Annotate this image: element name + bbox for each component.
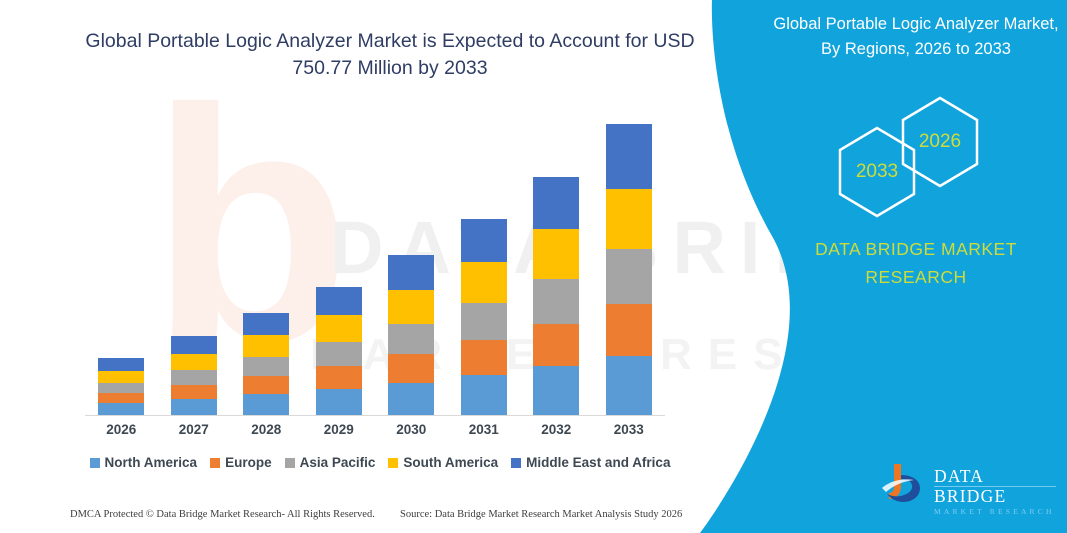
blue-panel-content: Global Portable Logic Analyzer Market, B… (760, 0, 1067, 533)
bar-segment[interactable] (171, 385, 217, 399)
legend-item[interactable]: North America (90, 455, 198, 470)
legend-item[interactable]: Middle East and Africa (511, 455, 670, 470)
x-axis-label: 2032 (520, 422, 593, 437)
bar-segment[interactable] (98, 358, 144, 371)
bar-segment[interactable] (461, 375, 507, 415)
bar-segment[interactable] (533, 229, 579, 278)
stacked-bar-chart (85, 120, 665, 416)
footer: DMCA Protected © Data Bridge Market Rese… (0, 505, 710, 529)
bar-segment[interactable] (171, 370, 217, 385)
stacked-bar[interactable] (316, 287, 362, 415)
legend-label: Asia Pacific (300, 455, 376, 470)
bar-segment[interactable] (388, 383, 434, 415)
bar-segment[interactable] (98, 393, 144, 403)
bar-group (593, 120, 666, 415)
bar-segment[interactable] (98, 403, 144, 415)
bar-segment[interactable] (243, 357, 289, 376)
footer-source: Source: Data Bridge Market Research Mark… (400, 509, 682, 520)
hexagon-2033: 2033 (835, 125, 919, 219)
bar-group (85, 120, 158, 415)
chart-legend: North AmericaEuropeAsia PacificSouth Ame… (85, 455, 675, 470)
bar-segment[interactable] (388, 255, 434, 290)
bar-segment[interactable] (98, 383, 144, 393)
bar-segment[interactable] (606, 124, 652, 188)
data-bridge-logo: DATA BRIDGE MARKET RESEARCH (880, 462, 1055, 510)
x-axis-label: 2030 (375, 422, 448, 437)
x-axis-label: 2028 (230, 422, 303, 437)
legend-swatch-icon (285, 458, 295, 468)
footer-copyright: DMCA Protected © Data Bridge Market Rese… (70, 509, 375, 520)
legend-swatch-icon (388, 458, 398, 468)
hexagon-2033-label: 2033 (835, 125, 919, 219)
bar-group (303, 120, 376, 415)
chart-bars (85, 120, 665, 415)
bar-segment[interactable] (606, 249, 652, 304)
bar-segment[interactable] (243, 335, 289, 356)
panel-brand-line2: RESEARCH (770, 263, 1062, 291)
bar-segment[interactable] (98, 371, 144, 383)
legend-item[interactable]: Asia Pacific (285, 455, 376, 470)
bar-segment[interactable] (606, 304, 652, 356)
x-axis-label: 2027 (158, 422, 231, 437)
bar-segment[interactable] (461, 340, 507, 375)
legend-item[interactable]: South America (388, 455, 498, 470)
bar-segment[interactable] (533, 366, 579, 415)
x-axis-label: 2026 (85, 422, 158, 437)
legend-label: South America (403, 455, 498, 470)
bar-segment[interactable] (461, 219, 507, 263)
bar-group (230, 120, 303, 415)
bar-segment[interactable] (316, 287, 362, 316)
legend-swatch-icon (210, 458, 220, 468)
bar-segment[interactable] (388, 324, 434, 354)
stacked-bar[interactable] (461, 219, 507, 415)
page-title: Global Portable Logic Analyzer Market is… (80, 28, 700, 82)
bar-segment[interactable] (606, 356, 652, 415)
bar-segment[interactable] (243, 376, 289, 394)
bar-segment[interactable] (388, 290, 434, 323)
panel-title: Global Portable Logic Analyzer Market, B… (770, 12, 1062, 62)
bar-segment[interactable] (171, 354, 217, 370)
bar-segment[interactable] (316, 389, 362, 415)
stacked-bar[interactable] (98, 358, 144, 415)
stacked-bar[interactable] (606, 124, 652, 415)
x-axis-labels: 20262027202820292030203120322033 (85, 422, 665, 437)
bar-segment[interactable] (461, 262, 507, 303)
bar-segment[interactable] (171, 336, 217, 354)
legend-label: Europe (225, 455, 272, 470)
bar-segment[interactable] (316, 366, 362, 389)
legend-label: Middle East and Africa (526, 455, 670, 470)
stacked-bar[interactable] (243, 313, 289, 415)
hexagon-group: 2026 2033 (760, 95, 1067, 215)
x-axis-line (85, 415, 665, 416)
bar-segment[interactable] (533, 279, 579, 324)
legend-swatch-icon (90, 458, 100, 468)
logo-divider (934, 486, 1056, 487)
logo-text: DATA BRIDGE MARKET RESEARCH (934, 466, 1059, 517)
legend-item[interactable]: Europe (210, 455, 272, 470)
logo-mark-icon (880, 462, 928, 508)
panel-brand-line1: DATA BRIDGE MARKET (770, 235, 1062, 263)
bar-segment[interactable] (533, 324, 579, 367)
stacked-bar[interactable] (533, 177, 579, 415)
panel-brand: DATA BRIDGE MARKET RESEARCH (770, 235, 1062, 291)
bar-group (158, 120, 231, 415)
legend-swatch-icon (511, 458, 521, 468)
bar-segment[interactable] (606, 189, 652, 249)
stacked-bar[interactable] (171, 336, 217, 415)
logo-subtitle: MARKET RESEARCH (934, 506, 1059, 517)
infographic-root: b DATA BRIDGE MARKET RESEARCH Global Por… (0, 0, 1067, 533)
bar-segment[interactable] (243, 394, 289, 415)
bar-group (520, 120, 593, 415)
bar-segment[interactable] (316, 342, 362, 366)
bar-segment[interactable] (533, 177, 579, 229)
bar-segment[interactable] (243, 313, 289, 336)
bar-segment[interactable] (316, 315, 362, 342)
x-axis-label: 2033 (593, 422, 666, 437)
bar-group (448, 120, 521, 415)
bar-segment[interactable] (171, 399, 217, 415)
x-axis-label: 2031 (448, 422, 521, 437)
legend-label: North America (105, 455, 198, 470)
stacked-bar[interactable] (388, 255, 434, 415)
bar-segment[interactable] (461, 303, 507, 340)
bar-group (375, 120, 448, 415)
bar-segment[interactable] (388, 354, 434, 383)
x-axis-label: 2029 (303, 422, 376, 437)
